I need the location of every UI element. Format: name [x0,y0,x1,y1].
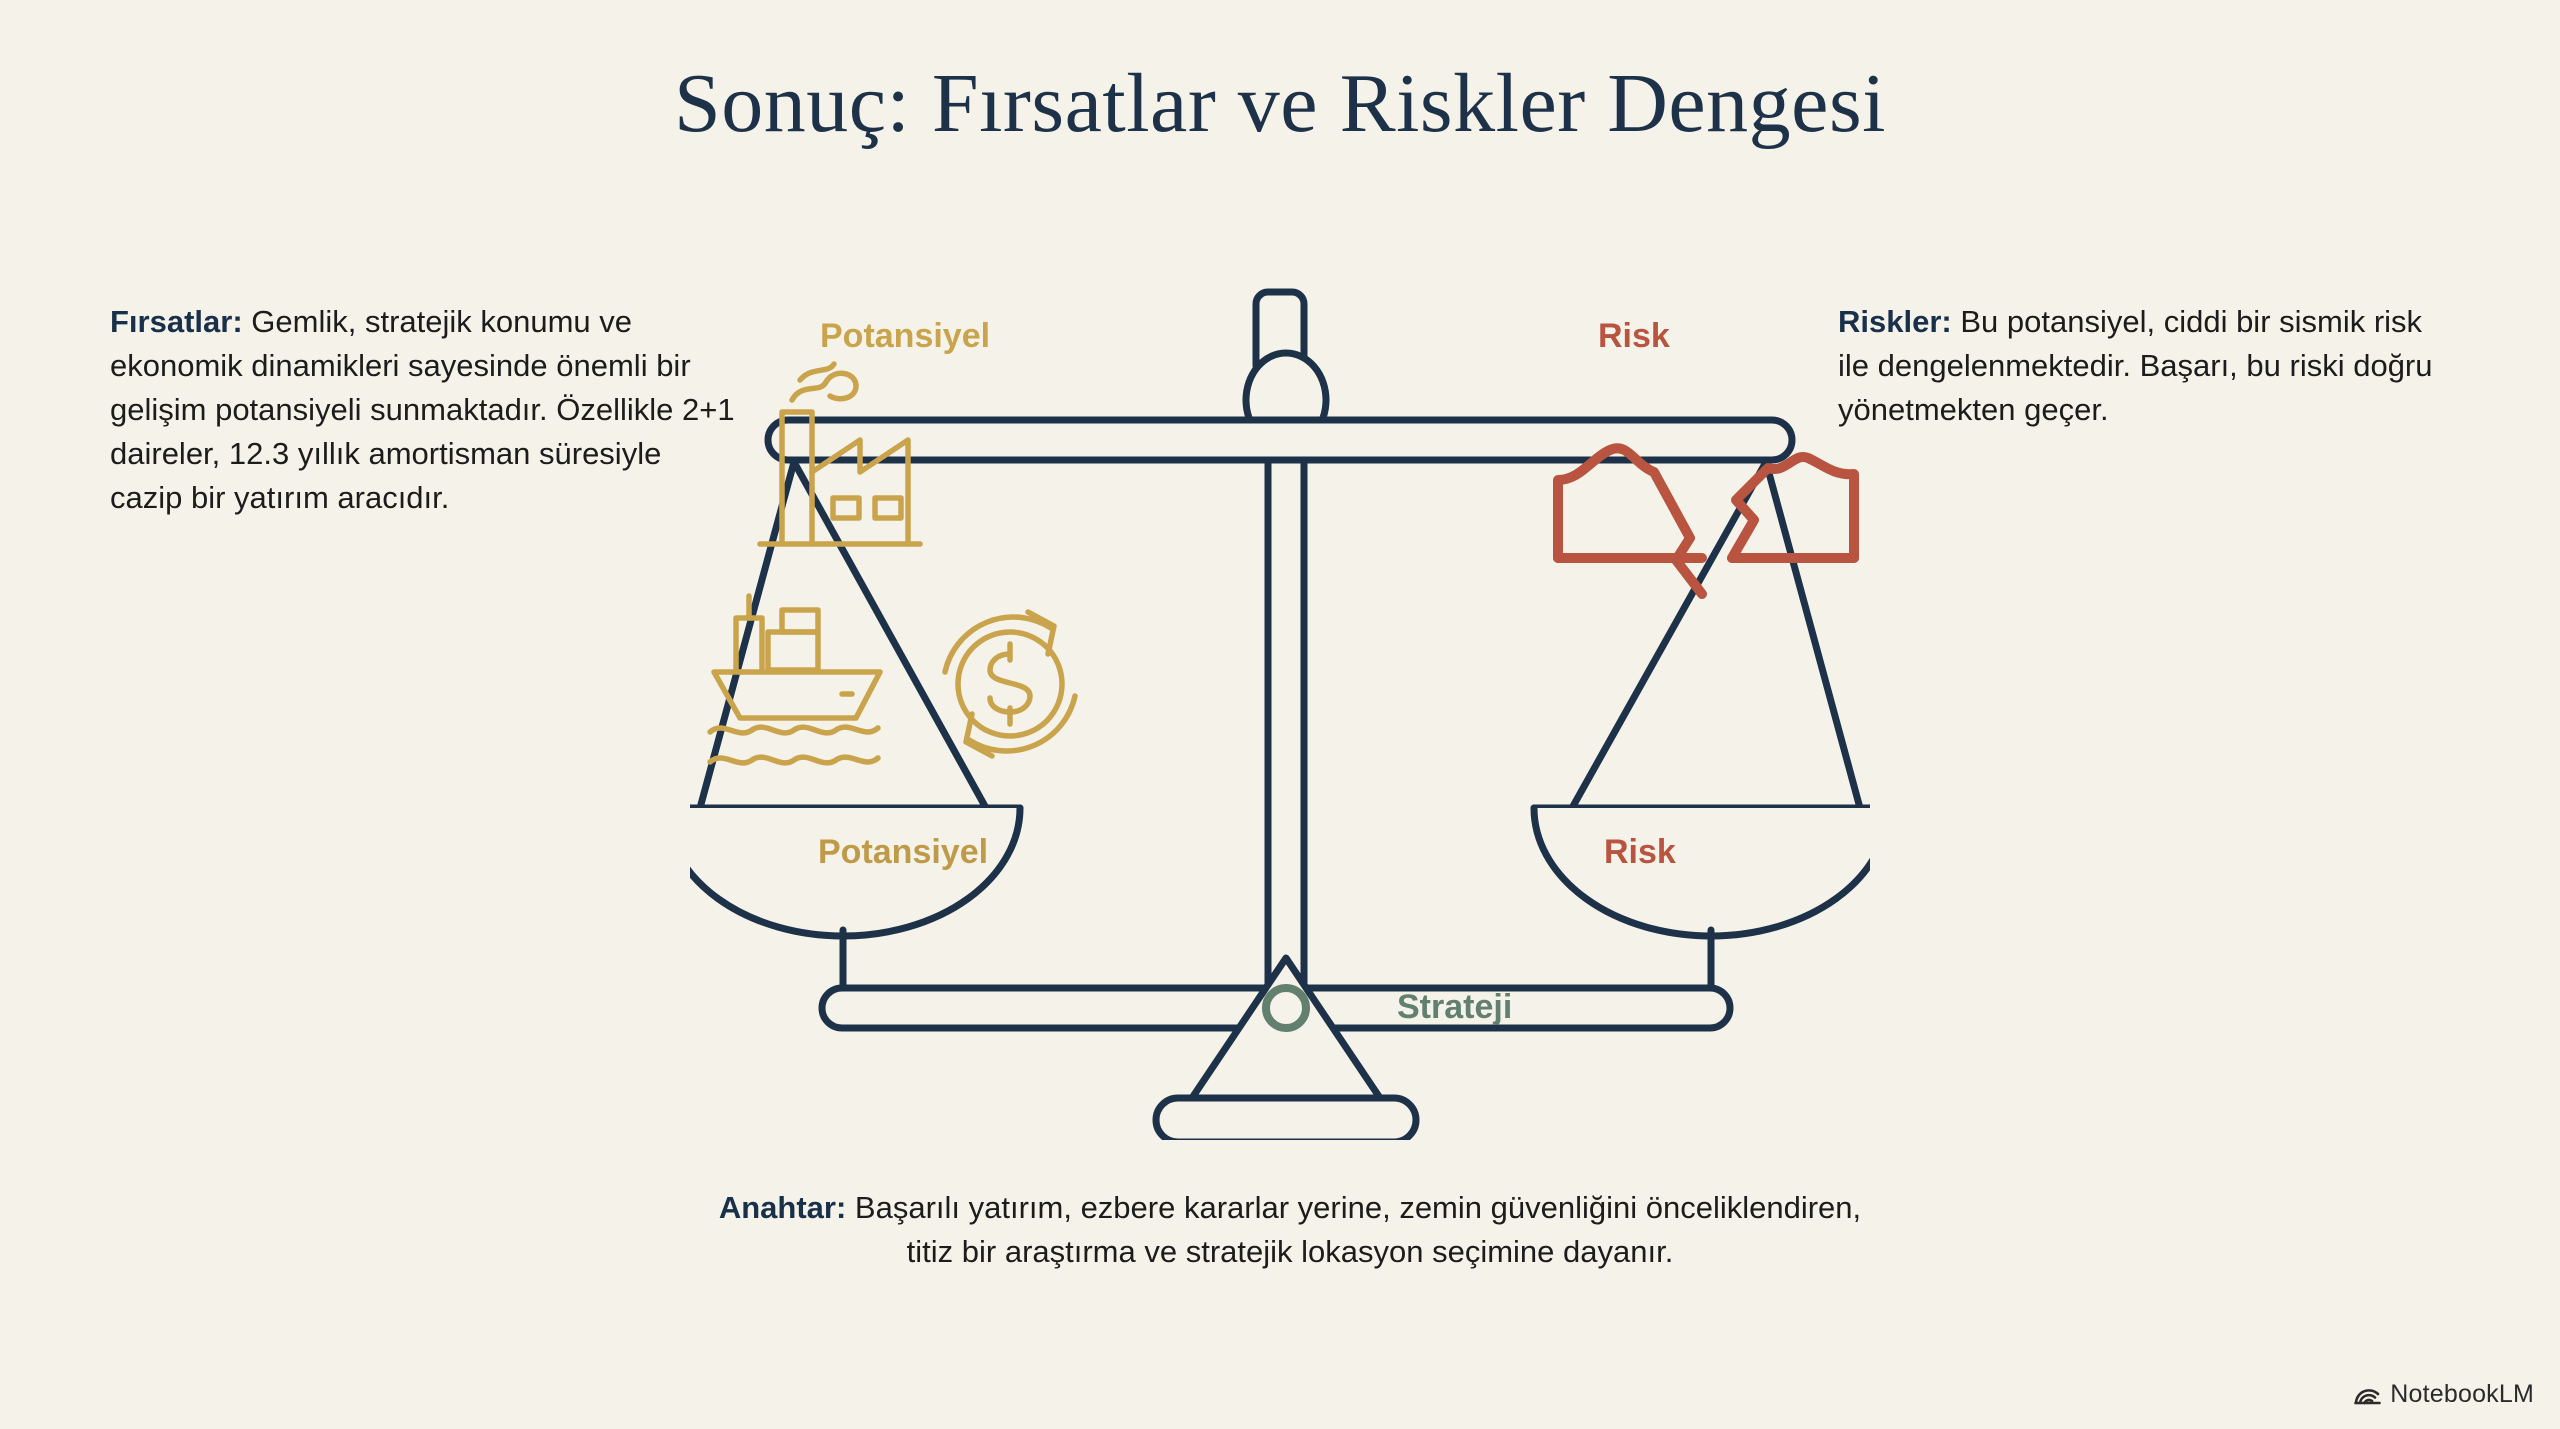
opportunities-paragraph: Fırsatlar: Gemlik, stratejik konumu ve e… [110,300,740,520]
balance-scale-svg [690,280,1870,1140]
left-pan-bowl [690,808,1020,936]
scale-beam [768,420,1792,460]
opportunities-lead: Fırsatlar: [110,304,243,339]
key-lead: Anahtar: [719,1190,846,1225]
right-hanger-inner [1572,462,1766,808]
scale-base [1156,1098,1416,1140]
right-pan-label: Risk [1604,833,1676,872]
key-body: Başarılı yatırım, ezbere kararlar yerine… [846,1190,1861,1269]
balance-scale-illustration [690,280,1870,1140]
money-cycle-icon [945,612,1075,756]
infographic-canvas: Sonuç: Fırsatlar ve Riskler Dengesi Fırs… [0,0,2560,1429]
notebooklm-watermark: NotebookLM [2353,1380,2534,1409]
right-top-label: Risk [1598,317,1670,356]
left-pan-label: Potansiyel [818,833,988,872]
right-hanger-outer [1766,462,1860,808]
left-hanger-inner [794,462,986,808]
page-title: Sonuç: Fırsatlar ve Riskler Dengesi [0,56,2560,153]
right-pan-bowl [1534,808,1870,936]
notebooklm-label: NotebookLM [2390,1380,2534,1409]
notebooklm-swirl-icon [2353,1383,2381,1407]
key-takeaway-paragraph: Anahtar: Başarılı yatırım, ezbere kararl… [700,1186,1880,1274]
left-top-label: Potansiyel [820,317,990,356]
fulcrum-label: Strateji [1397,988,1512,1027]
risks-paragraph: Riskler: Bu potansiyel, ciddi bir sismik… [1838,300,2448,432]
